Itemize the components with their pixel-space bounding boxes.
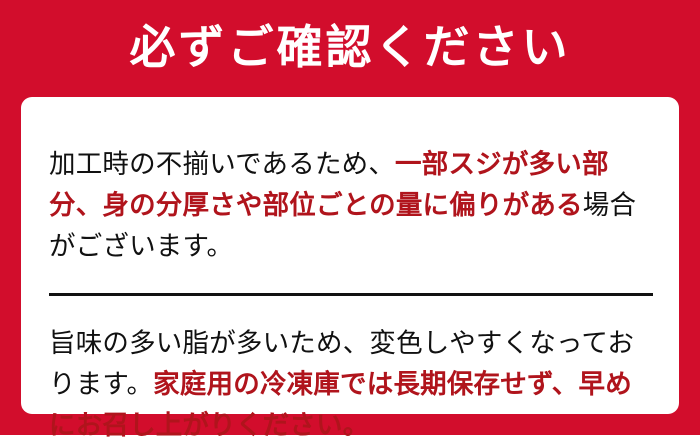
notice-card: 加工時の不揃いであるため、一部スジが多い部分、身の分厚さや部位ごとの量に偏りがあ…: [21, 97, 679, 414]
notice-card-inner: 加工時の不揃いであるため、一部スジが多い部分、身の分厚さや部位ごとの量に偏りがあ…: [21, 97, 679, 414]
notice-paragraph-1: 加工時の不揃いであるため、一部スジが多い部分、身の分厚さや部位ごとの量に偏りがあ…: [49, 144, 657, 267]
notice-paragraph-2: 旨味の多い脂が多いため、変色しやすくなっております。家庭用の冷凍庫では長期保存せ…: [49, 323, 657, 446]
page-title: 必ずご確認ください: [130, 0, 571, 70]
notice-banner: 必ずご確認ください 加工時の不揃いであるため、一部スジが多い部分、身の分厚さや部…: [0, 0, 700, 435]
body-text: 加工時の不揃いであるため、: [49, 149, 395, 180]
notice-divider: [49, 293, 653, 296]
